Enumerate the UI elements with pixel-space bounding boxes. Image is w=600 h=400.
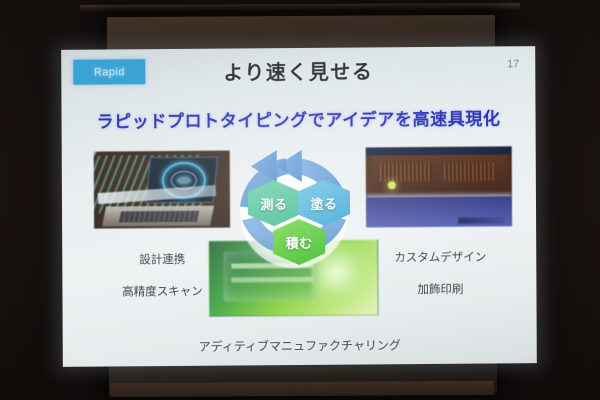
slide-header: Rapid より速く見せる 17 bbox=[61, 54, 535, 90]
cycle-diagram: 測る 塗る 積む 設計連携 高精度スキャン カスタムデザイン 加飾印刷 アディテ… bbox=[62, 138, 537, 367]
caption-right: カスタムデザイン 加飾印刷 bbox=[354, 234, 526, 299]
caption-bottom-line1: アディティブマニュファクチャリング bbox=[63, 336, 537, 356]
caption-bottom: アディティブマニュファクチャリング 3D造形 bbox=[63, 320, 537, 367]
printer-logo-decoration bbox=[458, 217, 504, 223]
slide: Rapid より速く見せる 17 ラピッドプロトタイピングでアイデアを高速具現化 bbox=[61, 46, 537, 367]
caption-right-line2: 加飾印刷 bbox=[417, 283, 463, 295]
caption-left: 設計連携 高精度スキャン bbox=[84, 236, 240, 301]
slide-subtitle: ラピッドプロトタイピングでアイデアを高速具現化 bbox=[61, 104, 535, 133]
keyboard-decoration bbox=[119, 211, 199, 223]
screen-top-rail bbox=[80, 3, 520, 12]
caption-right-line1: カスタムデザイン bbox=[394, 251, 486, 264]
printer-led-icon bbox=[388, 181, 396, 189]
page-title: より速く見せる bbox=[61, 54, 535, 87]
printer-vent-right-decoration bbox=[444, 162, 494, 180]
caption-left-line2: 高精度スキャン bbox=[122, 285, 203, 298]
print-photo bbox=[366, 146, 512, 227]
caption-left-line1: 設計連携 bbox=[139, 254, 185, 266]
scan-photo bbox=[94, 151, 230, 229]
printer-vent-left-decoration bbox=[380, 163, 432, 181]
page-number: 17 bbox=[507, 58, 519, 70]
projected-slide-photo: Rapid より速く見せる 17 ラピッドプロトタイピングでアイデアを高速具現化 bbox=[0, 0, 600, 400]
projection-screen-foot bbox=[110, 381, 494, 397]
